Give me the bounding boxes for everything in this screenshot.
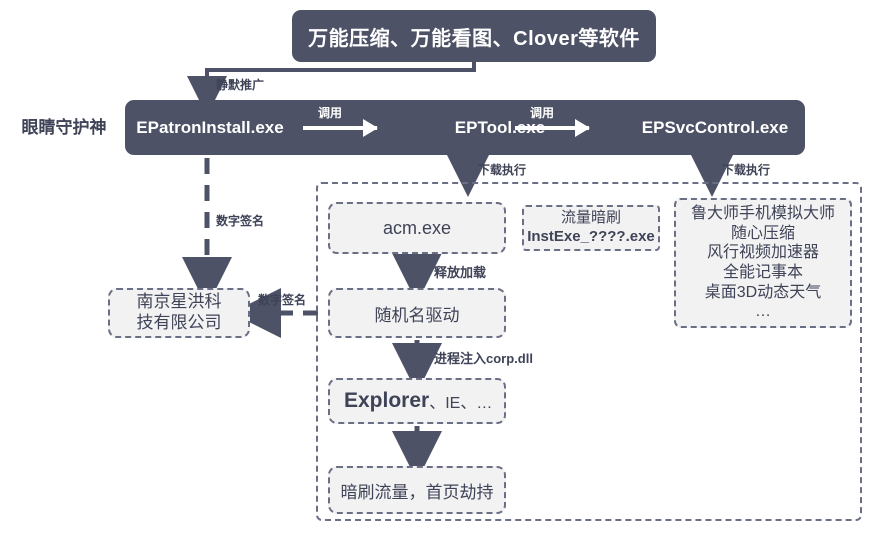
edge-label-silent-promote: 静默推广	[216, 76, 264, 93]
node-instexe-line1: 流量暗刷	[561, 209, 621, 228]
software-bundle-label: 万能压缩、万能看图、Clover等软件	[308, 22, 640, 51]
node-final-impact-label: 暗刷流量，首页劫持	[341, 478, 494, 503]
edge-label-process-inject: 进程注入corp.dll	[434, 348, 533, 367]
node-acm-exe[interactable]: acm.exe	[328, 202, 506, 254]
node-signing-company[interactable]: 南京星洪科 技有限公司	[108, 288, 250, 338]
promoted-list-item: 随心压缩	[731, 224, 795, 244]
pipeline-stage-label: EPSvcControl.exe	[642, 118, 788, 138]
brand-label: 眼睛守护神	[10, 113, 118, 138]
call-arrow-1-icon	[303, 126, 377, 130]
edge-label-download-exec-1: 下载执行	[478, 161, 526, 178]
node-instexe-line2: InstExe_????.exe	[527, 228, 655, 247]
promoted-list-item: 风行视频加速器	[707, 243, 819, 263]
node-random-name-driver-label: 随机名驱动	[375, 301, 460, 326]
node-explorer-rest: 、IE、…	[429, 389, 492, 413]
edge-label-download-exec-2: 下载执行	[722, 161, 770, 178]
node-promoted-software-list[interactable]: 鲁大师手机模拟大师 随心压缩 风行视频加速器 全能记事本 桌面3D动态天气 …	[674, 198, 852, 328]
diagram-canvas: 万能压缩、万能看图、Clover等软件 眼睛守护神 EPatronInstall…	[0, 0, 880, 536]
node-random-name-driver[interactable]: 随机名驱动	[328, 288, 506, 338]
software-bundle-box[interactable]: 万能压缩、万能看图、Clover等软件	[292, 10, 656, 62]
pipeline-stage-epatroninstall[interactable]: EPatronInstall.exe	[125, 100, 295, 155]
promoted-list-item: …	[755, 302, 771, 322]
node-final-impact[interactable]: 暗刷流量，首页劫持	[328, 466, 506, 514]
node-signing-company-line1: 南京星洪科	[137, 292, 222, 313]
edge-label-digital-signature-horizontal: 数字签名	[258, 291, 306, 308]
node-instexe[interactable]: 流量暗刷 InstExe_????.exe	[522, 205, 660, 251]
pipeline-bar: EPatronInstall.exe 调用 EPTool.exe 调用 EPSv…	[125, 100, 805, 155]
edge-label-release-load: 释放加载	[434, 262, 486, 281]
call-arrow-1-label: 调用	[318, 104, 342, 121]
pipeline-stage-label: EPatronInstall.exe	[136, 118, 283, 138]
promoted-list-item: 全能记事本	[723, 263, 803, 283]
promoted-list-item: 鲁大师手机模拟大师	[691, 204, 835, 224]
node-signing-company-line2: 技有限公司	[137, 313, 222, 334]
edge-label-digital-signature-vertical: 数字签名	[216, 212, 264, 229]
promoted-list-item: 桌面3D动态天气	[705, 283, 821, 303]
call-arrow-2-icon	[515, 126, 589, 130]
pipeline-stage-epsvccontrol[interactable]: EPSvcControl.exe	[625, 100, 805, 155]
node-injected-processes[interactable]: Explorer 、IE、…	[328, 378, 506, 424]
node-acm-exe-label: acm.exe	[383, 218, 451, 239]
node-explorer-primary: Explorer	[344, 389, 429, 413]
call-arrow-2-label: 调用	[530, 104, 554, 121]
